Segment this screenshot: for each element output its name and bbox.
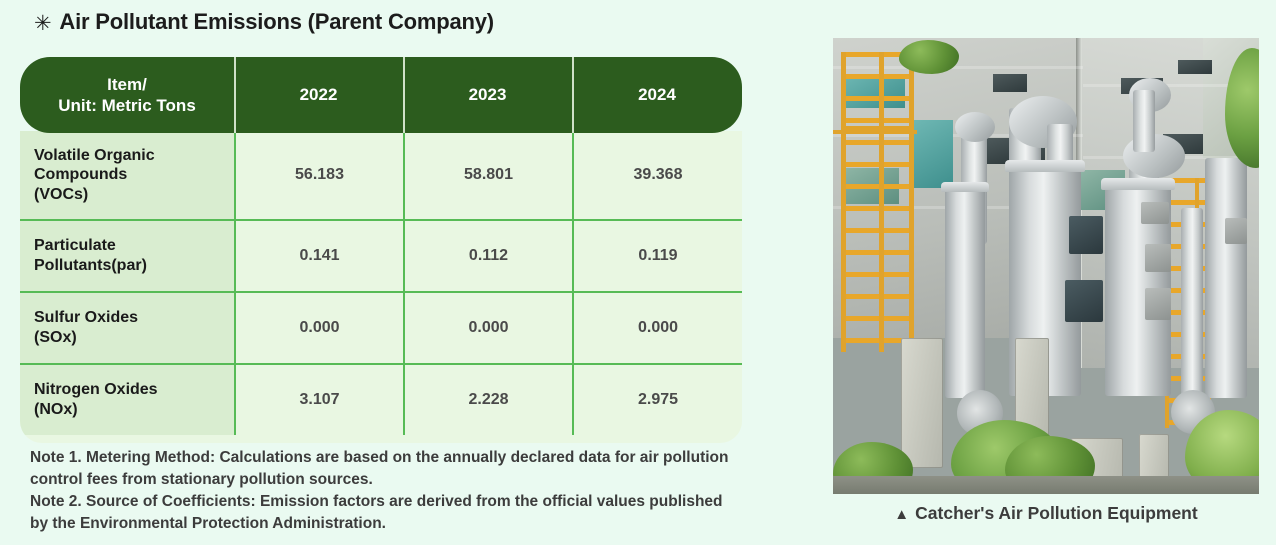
- row-label-line: Nitrogen Oxides: [34, 380, 158, 400]
- cell-particulate-2022: 0.141: [234, 221, 403, 291]
- row-label-line: Compounds: [34, 165, 155, 185]
- window: [1178, 60, 1212, 74]
- row-label-particulate: Particulate Pollutants(par): [20, 221, 234, 291]
- tree-branch: [899, 40, 959, 74]
- control-cabinet: [901, 338, 943, 468]
- caged-ladder-left: [841, 52, 913, 352]
- row-label-line: Particulate: [34, 236, 147, 256]
- access-plate: [1141, 202, 1169, 224]
- cell-vocs-2022: 56.183: [234, 131, 403, 219]
- cell-sox-2022: 0.000: [234, 293, 403, 363]
- column-header-item-line2: Unit: Metric Tons: [58, 95, 196, 116]
- triangle-icon: ▲: [894, 506, 909, 523]
- column-header-2024: 2024: [572, 57, 742, 133]
- photo-caption-text: Catcher's Air Pollution Equipment: [915, 503, 1198, 523]
- column-header-item-line1: Item/: [58, 74, 196, 95]
- table-row: Nitrogen Oxides (NOx) 3.107 2.228 2.975: [20, 363, 742, 435]
- scrubber-tower: [945, 188, 985, 398]
- duct-elbow: [955, 112, 995, 142]
- cell-particulate-2023: 0.112: [403, 221, 572, 291]
- ladder-rail: [909, 52, 914, 352]
- ground-strip: [833, 476, 1259, 494]
- row-label-line: (NOx): [34, 400, 158, 420]
- row-label-line: (SOx): [34, 328, 138, 348]
- tower-cap: [941, 182, 989, 192]
- ladder-platform: [833, 130, 917, 134]
- column-header-item: Item/ Unit: Metric Tons: [20, 57, 234, 133]
- table-header-row: Item/ Unit: Metric Tons 2022 2023 2024: [20, 57, 742, 133]
- scrubber-tower: [1205, 158, 1247, 398]
- access-plate: [1145, 288, 1171, 320]
- duct-riser: [1133, 90, 1155, 152]
- note-2: Note 2. Source of Coefficients: Emission…: [30, 491, 730, 535]
- table-body: Volatile Organic Compounds (VOCs) 56.183…: [20, 131, 742, 443]
- photo-caption: ▲Catcher's Air Pollution Equipment: [833, 503, 1259, 524]
- table-row: Sulfur Oxides (SOx) 0.000 0.000 0.000: [20, 291, 742, 363]
- row-label-sox: Sulfur Oxides (SOx): [20, 293, 234, 363]
- cell-sox-2024: 0.000: [572, 293, 742, 363]
- row-label-line: Pollutants(par): [34, 256, 147, 276]
- cell-particulate-2024: 0.119: [572, 221, 742, 291]
- asterisk-icon: ✳: [34, 11, 51, 36]
- cell-vocs-2024: 39.368: [572, 131, 742, 219]
- inspection-panel: [1069, 216, 1103, 254]
- table-row: Volatile Organic Compounds (VOCs) 56.183…: [20, 131, 742, 219]
- window: [911, 120, 953, 188]
- cell-nox-2023: 2.228: [403, 365, 572, 435]
- ladder-rail: [841, 52, 846, 352]
- air-pollution-equipment-photo: [833, 38, 1259, 494]
- row-label-line: Volatile Organic: [34, 146, 155, 166]
- row-label-line: Sulfur Oxides: [34, 308, 138, 328]
- window: [993, 74, 1027, 92]
- column-header-2022: 2022: [234, 57, 403, 133]
- ladder-rail: [879, 52, 884, 352]
- cell-vocs-2023: 58.801: [403, 131, 572, 219]
- note-1: Note 1. Metering Method: Calculations ar…: [30, 447, 730, 491]
- tower-cap: [1005, 160, 1085, 172]
- inspection-panel: [1065, 280, 1103, 322]
- row-label-line: (VOCs): [34, 185, 155, 205]
- duct-riser: [1181, 208, 1203, 398]
- access-plate: [1145, 244, 1171, 272]
- photo-illustration: [833, 38, 1259, 494]
- air-pollutant-emissions-table: Item/ Unit: Metric Tons 2022 2023 2024 V…: [20, 57, 742, 443]
- row-label-nox: Nitrogen Oxides (NOx): [20, 365, 234, 435]
- cell-nox-2022: 3.107: [234, 365, 403, 435]
- table-notes: Note 1. Metering Method: Calculations ar…: [30, 447, 730, 535]
- page-title: ✳Air Pollutant Emissions (Parent Company…: [34, 9, 494, 35]
- cell-nox-2024: 2.975: [572, 365, 742, 435]
- page-title-text: Air Pollutant Emissions (Parent Company): [59, 9, 494, 34]
- tower-cap: [1101, 178, 1175, 190]
- table-row: Particulate Pollutants(par) 0.141 0.112 …: [20, 219, 742, 291]
- access-plate: [1225, 218, 1247, 244]
- cell-sox-2023: 0.000: [403, 293, 572, 363]
- column-header-2023: 2023: [403, 57, 572, 133]
- row-label-vocs: Volatile Organic Compounds (VOCs): [20, 131, 234, 219]
